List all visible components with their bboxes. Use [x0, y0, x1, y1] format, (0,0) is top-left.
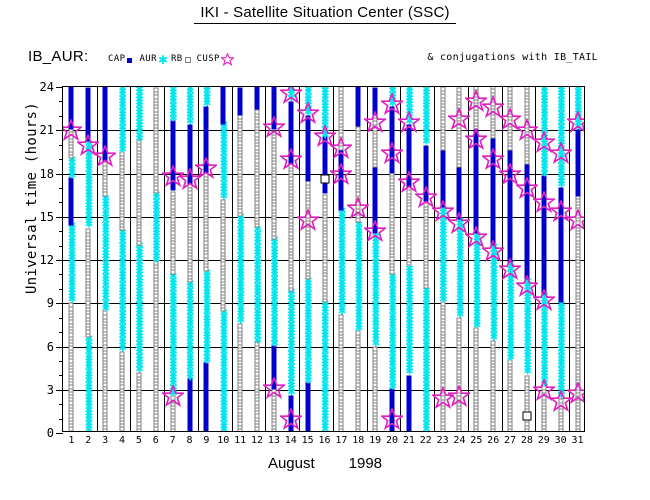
marker-cusp — [567, 111, 584, 133]
marker-cusp — [263, 116, 285, 138]
x-axis-tick-label: 21 — [403, 435, 415, 446]
marker-cusp — [550, 142, 572, 164]
marker-cap — [508, 150, 513, 155]
legend-label-aur: AUR — [139, 54, 156, 64]
vertical-gridline — [232, 87, 233, 431]
marker-rb — [322, 194, 327, 199]
plot-frame: ✱✱✱✱✱✱✱✱✱✱✱✱✱✱✱✱✱✱✱✱✱✱✱✱✱✱✱✱✱✱✱✱✱✱✱✱✱✱✱✱… — [62, 86, 585, 432]
marker-rb-highlight — [522, 411, 531, 420]
legend-item-rb: RB — [171, 53, 194, 64]
marker-cusp — [567, 382, 584, 404]
x-axis-tick-label: 3 — [102, 435, 108, 446]
marker-cusp — [280, 148, 302, 170]
y-axis-major-tick — [56, 347, 63, 348]
legend-item-aur: AUR ✱ — [139, 53, 167, 64]
marker-aur: ✱ — [574, 87, 581, 92]
y-axis-minor-tick — [59, 202, 63, 203]
y-axis-tick-label: 9 — [47, 296, 54, 310]
asterisk-cyan-icon: ✱ — [158, 53, 168, 64]
x-axis-tick-label: 28 — [521, 435, 533, 446]
x-axis-label: August1998 — [0, 455, 650, 472]
y-axis-major-tick — [56, 217, 63, 218]
y-axis-tick-label: 18 — [40, 167, 54, 181]
marker-aur: ✱ — [102, 195, 109, 202]
marker-cap — [255, 87, 260, 90]
marker-cap — [373, 167, 378, 172]
y-axis-minor-tick — [59, 404, 63, 405]
open-square-gray-icon — [184, 53, 194, 64]
y-axis-tick-label: 24 — [40, 80, 54, 94]
y-axis-minor-tick — [59, 188, 63, 189]
marker-cusp — [280, 408, 302, 430]
x-axis-tick-label: 31 — [572, 435, 584, 446]
filled-square-blue-icon — [126, 53, 136, 64]
y-axis-minor-tick — [59, 318, 63, 319]
marker-rb — [153, 88, 158, 93]
marker-cusp — [448, 385, 470, 407]
x-axis-year: 1998 — [349, 455, 382, 472]
vertical-gridline — [367, 87, 368, 431]
vertical-gridline — [198, 87, 199, 431]
marker-aur: ✱ — [304, 87, 311, 94]
legend-label-cap: CAP — [108, 54, 125, 64]
x-axis-tick-label: 13 — [268, 435, 280, 446]
legend-label-rb: RB — [171, 54, 183, 64]
marker-aur: ✱ — [321, 87, 328, 91]
marker-cusp — [330, 137, 352, 159]
x-axis-month: August — [268, 455, 315, 472]
x-axis-tick-label: 10 — [217, 435, 229, 446]
y-axis-major-tick — [56, 433, 63, 434]
marker-cusp — [330, 163, 352, 185]
marker-rb — [255, 109, 260, 114]
x-axis-tick-label: 30 — [555, 435, 567, 446]
y-axis-minor-tick — [59, 145, 63, 146]
marker-cusp — [364, 220, 386, 242]
y-axis-tick-label: 0 — [47, 426, 54, 440]
marker-aur: ✱ — [388, 87, 395, 92]
x-axis-tick-label: 11 — [234, 435, 246, 446]
vertical-gridline — [164, 87, 165, 431]
x-axis-tick-label: 9 — [203, 435, 209, 446]
marker-cusp — [195, 157, 217, 179]
y-axis-major-tick — [56, 390, 63, 391]
y-axis-minor-tick — [59, 159, 63, 160]
marker-aur: ✱ — [557, 87, 564, 91]
x-axis-tick-label: 20 — [386, 435, 398, 446]
y-axis-tick-label: 21 — [40, 123, 54, 137]
x-axis-tick-label: 24 — [453, 435, 465, 446]
vertical-gridline — [299, 87, 300, 431]
x-axis-tick-label: 2 — [85, 435, 91, 446]
marker-rb — [170, 191, 175, 196]
vertical-gridline — [400, 87, 401, 431]
x-axis-tick-label: 6 — [153, 435, 159, 446]
marker-cusp — [381, 408, 403, 430]
x-axis-tick-label: 12 — [251, 435, 263, 446]
marker-aur: ✱ — [169, 87, 176, 93]
marker-aur: ✱ — [405, 87, 412, 93]
x-axis-tick-label: 22 — [420, 435, 432, 446]
marker-cusp — [381, 142, 403, 164]
marker-rb — [524, 87, 529, 90]
vertical-gridline — [130, 87, 131, 431]
marker-cap — [69, 87, 74, 91]
x-axis-tick-label: 29 — [538, 435, 550, 446]
y-axis-tick-label: 15 — [40, 210, 54, 224]
marker-cap — [440, 151, 445, 156]
y-axis-tick-label: 3 — [47, 383, 54, 397]
marker-cusp — [94, 145, 116, 167]
marker-aur: ✱ — [203, 87, 210, 92]
x-axis-tick-label: 7 — [170, 435, 176, 446]
marker-aur: ✱ — [135, 87, 142, 94]
marker-cap — [238, 88, 243, 93]
legend-item-cusp: CUSP — [197, 53, 231, 64]
marker-rb — [491, 87, 496, 90]
page-title: IKI - Satellite Situation Center (SSC) — [194, 4, 455, 24]
x-axis-tick-label: 5 — [136, 435, 142, 446]
vertical-gridline — [569, 87, 570, 431]
y-axis-major-tick — [56, 130, 63, 131]
x-axis-tick-label: 4 — [119, 435, 125, 446]
vertical-gridline — [434, 87, 435, 431]
marker-aur: ✱ — [169, 274, 176, 281]
marker-cap — [86, 88, 91, 93]
y-axis-minor-tick — [59, 231, 63, 232]
marker-aur: ✱ — [186, 87, 193, 93]
y-axis-minor-tick — [59, 101, 63, 102]
y-axis-label: Universal time (hours) — [24, 48, 40, 348]
x-axis-tick-label: 8 — [187, 435, 193, 446]
x-axis-tick-label: 14 — [285, 435, 297, 446]
y-axis-tick-label: 6 — [47, 340, 54, 354]
marker-rb — [440, 87, 445, 92]
marker-rb — [356, 126, 361, 131]
x-axis-tick-label: 27 — [504, 435, 516, 446]
marker-cusp — [263, 377, 285, 399]
legend-item-cap: CAP — [108, 53, 136, 64]
x-axis-tick-label: 1 — [68, 435, 74, 446]
y-axis-minor-tick — [59, 332, 63, 333]
x-axis-tick-label: 15 — [302, 435, 314, 446]
y-axis-minor-tick — [59, 419, 63, 420]
x-axis-tick-label: 26 — [487, 435, 499, 446]
marker-rb-highlight — [320, 175, 329, 184]
marker-cap — [373, 88, 378, 93]
marker-rb — [508, 87, 513, 92]
marker-cusp — [297, 209, 319, 231]
marker-cap — [221, 87, 226, 92]
marker-cap — [356, 87, 361, 91]
plot-area: ✱✱✱✱✱✱✱✱✱✱✱✱✱✱✱✱✱✱✱✱✱✱✱✱✱✱✱✱✱✱✱✱✱✱✱✱✱✱✱✱… — [63, 87, 584, 431]
x-axis-tick-label: 25 — [470, 435, 482, 446]
marker-cusp — [533, 289, 555, 311]
y-axis-major-tick — [56, 260, 63, 261]
x-axis-tick-label: 23 — [437, 435, 449, 446]
marker-aur: ✱ — [355, 222, 362, 229]
open-star-magenta-icon — [221, 53, 231, 64]
marker-aur: ✱ — [422, 87, 429, 93]
y-axis-minor-tick — [59, 361, 63, 362]
marker-cusp — [297, 102, 319, 124]
marker-aur: ✱ — [119, 87, 126, 92]
marker-rb — [339, 87, 344, 92]
marker-cusp — [162, 385, 184, 407]
title-block: IKI - Satellite Situation Center (SSC) — [0, 4, 650, 24]
marker-cusp — [398, 111, 420, 133]
marker-cap — [103, 87, 108, 90]
y-axis-minor-tick — [59, 246, 63, 247]
marker-aur: ✱ — [388, 273, 395, 280]
y-axis-minor-tick — [59, 116, 63, 117]
marker-cusp — [465, 128, 487, 150]
marker-rb — [457, 88, 462, 93]
marker-cusp — [347, 197, 369, 219]
y-axis-major-tick — [56, 174, 63, 175]
marker-cusp — [567, 209, 584, 231]
legend-label-cusp: CUSP — [197, 54, 220, 64]
marker-aur: ✱ — [254, 227, 261, 234]
legend-key-list: CAP AUR ✱ RB CUSP — [108, 53, 231, 64]
y-axis-major-tick — [56, 87, 63, 88]
y-axis-tick-label: 12 — [40, 253, 54, 267]
x-axis-tick-label: 17 — [335, 435, 347, 446]
marker-cap — [271, 87, 276, 91]
y-axis-minor-tick — [59, 274, 63, 275]
x-axis-tick-label: 18 — [352, 435, 364, 446]
y-axis-minor-tick — [59, 289, 63, 290]
y-axis-minor-tick — [59, 375, 63, 376]
marker-aur: ✱ — [540, 87, 547, 93]
legend-conjugation-note: & conjugations with IB_TAIL — [427, 52, 598, 63]
legend: IB_AUR: CAP AUR ✱ RB CUSP — [0, 48, 650, 70]
marker-aur: ✱ — [405, 265, 412, 272]
x-axis-tick-label: 16 — [318, 435, 330, 446]
x-axis-tick-label: 19 — [369, 435, 381, 446]
marker-cap — [524, 165, 529, 170]
y-axis-major-tick — [56, 303, 63, 304]
